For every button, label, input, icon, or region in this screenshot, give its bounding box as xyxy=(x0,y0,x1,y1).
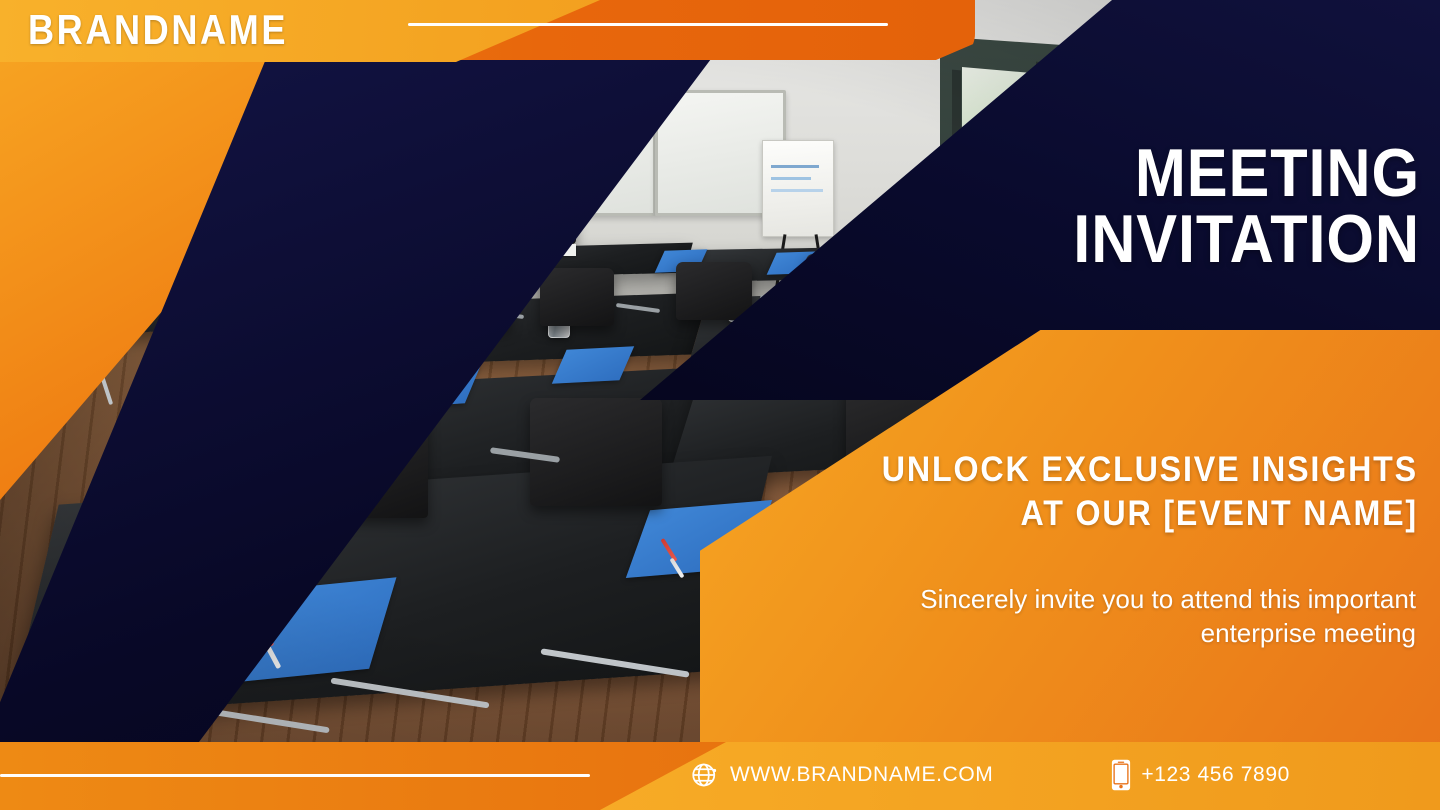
invitation-poster: BRANDNAME MEETING INVITATION UNLOCK EXCL… xyxy=(0,0,1440,810)
poster-title: MEETING INVITATION xyxy=(844,140,1420,272)
title-line-2: INVITATION xyxy=(844,206,1420,272)
headline-line-1: UNLOCK EXCLUSIVE INSIGHTS xyxy=(848,448,1418,492)
website-contact[interactable]: WWW.BRANDNAME.COM xyxy=(690,760,993,790)
body-line-2: enterprise meeting xyxy=(816,616,1416,650)
phone-label: +123 456 7890 xyxy=(1141,763,1290,787)
footer-divider-line xyxy=(0,774,590,777)
chair xyxy=(530,398,662,506)
mobile-phone-icon xyxy=(1111,759,1131,791)
chair xyxy=(540,268,614,326)
body-line-1: Sincerely invite you to attend this impo… xyxy=(816,582,1416,616)
poster-body-text: Sincerely invite you to attend this impo… xyxy=(816,582,1416,650)
flipchart-board xyxy=(762,140,834,237)
title-line-1: MEETING xyxy=(844,140,1420,206)
website-label: WWW.BRANDNAME.COM xyxy=(730,763,993,787)
poster-headline: UNLOCK EXCLUSIVE INSIGHTS AT OUR [EVENT … xyxy=(848,448,1418,536)
footer-contacts: WWW.BRANDNAME.COM +123 456 7890 xyxy=(690,752,1350,798)
brand-logo-text: BRANDNAME xyxy=(28,8,288,52)
headline-line-2: AT OUR [EVENT NAME] xyxy=(848,492,1418,536)
header-divider-line xyxy=(408,23,888,26)
chair xyxy=(676,262,752,320)
phone-contact[interactable]: +123 456 7890 xyxy=(1111,759,1290,791)
globe-icon xyxy=(690,760,720,790)
